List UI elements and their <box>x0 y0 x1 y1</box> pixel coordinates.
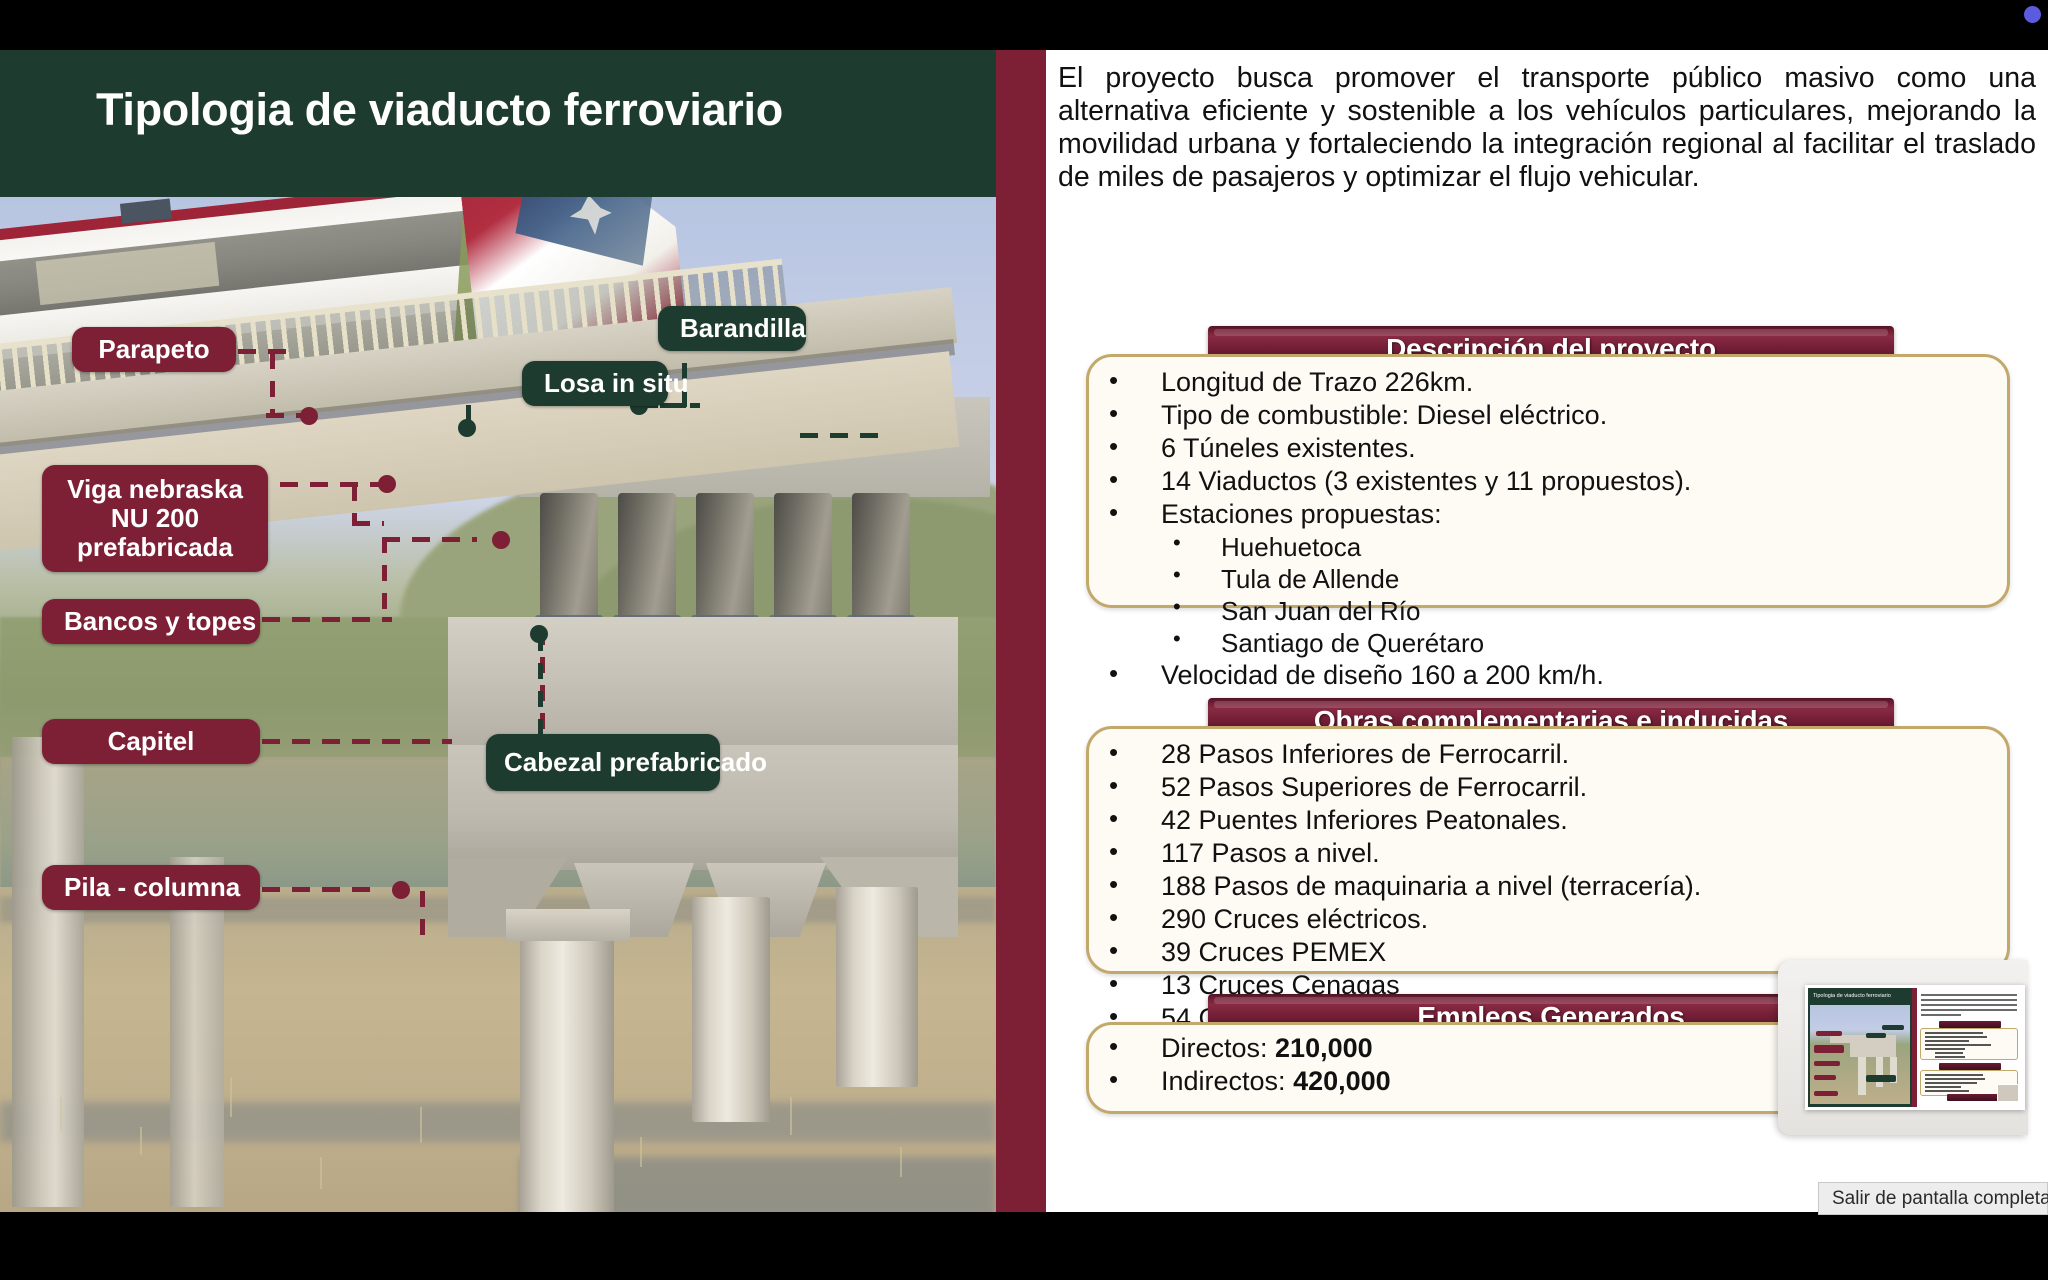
diagram-label-barandilla: Barandilla <box>658 306 806 351</box>
thumb-left-panel: Tipologia de viaducto ferroviario <box>1808 988 1912 1107</box>
diagram-label-losa-in-situ: Losa in situ <box>522 361 668 406</box>
pier-cap-upper <box>448 617 958 747</box>
beam-row <box>540 493 960 625</box>
diagram-label-cabezal-prefabricado: Cabezal prefabricado <box>486 734 720 791</box>
leader-cabezal-h <box>800 433 890 438</box>
thumb-label-7 <box>1866 1033 1886 1038</box>
fullscreen-presentation-viewer: Tipologia de viaducto ferroviario <box>0 0 2048 1280</box>
thumb-text-line <box>1921 1014 1961 1016</box>
bullet-item: 52 Pasos Superiores de Ferrocarril. <box>1089 774 2007 801</box>
beam-4 <box>774 493 832 623</box>
grass-tuft <box>900 1147 902 1177</box>
page-title: Tipologia de viaducto ferroviario <box>96 84 926 136</box>
thumb-text-line <box>1921 1009 2017 1011</box>
grass-tuft <box>140 1127 142 1155</box>
thumb-right-panel <box>1917 988 2022 1107</box>
thumb-label-8 <box>1866 1075 1896 1082</box>
thumb-bullet <box>1925 1086 1961 1088</box>
bullet-item: 14 Viaductos (3 existentes y 11 propuest… <box>1089 468 2007 495</box>
thumb-bullet <box>1925 1044 1991 1046</box>
slide-left-panel: Tipologia de viaducto ferroviario <box>0 50 996 1212</box>
diagram-label-capitel: Capitel <box>42 719 260 764</box>
bullet-item: Huehuetoca <box>1089 534 2007 560</box>
bullet-item: 28 Pasos Inferiores de Ferrocarril. <box>1089 741 2007 768</box>
thumb-text-line <box>1921 999 2017 1001</box>
thumb-bullet <box>1925 1040 1969 1042</box>
column-cap-1 <box>506 909 630 941</box>
thumb-col-2 <box>1876 1057 1883 1087</box>
diagram-label-pila-columna: Pila - columna <box>42 865 260 910</box>
thumb-title: Tipologia de viaducto ferroviario <box>1813 993 1907 999</box>
ground-strip-b <box>0 1102 996 1142</box>
thumb-bullet <box>1935 1052 1963 1054</box>
thumb-section-header-3 <box>1947 1094 1999 1101</box>
leader-capitel-h <box>262 739 452 744</box>
diagram-label-parapeto: Parapeto <box>72 327 236 372</box>
thumb-deck <box>1830 1035 1896 1043</box>
leader-pila-dot <box>392 881 410 899</box>
thumb-bullet <box>1925 1074 1983 1076</box>
column-main-1 <box>520 932 614 1212</box>
thumb-nested-preview <box>1997 1084 2019 1102</box>
bullet-item: 42 Puentes Inferiores Peatonales. <box>1089 807 2007 834</box>
box-descripcion-del-proyecto: Longitud de Trazo 226km.Tipo de combusti… <box>1086 354 2010 608</box>
leader-bancos-h2 <box>382 537 477 542</box>
leader-cabezal-v <box>538 635 543 735</box>
thumb-bullet <box>1925 1078 1985 1080</box>
bullet-item: Tula de Allende <box>1089 566 2007 592</box>
bullet-item: San Juan del Río <box>1089 598 2007 624</box>
leader-parapeto-v <box>270 353 275 417</box>
diagram-label-bancos-y-topes: Bancos y topes <box>42 599 260 644</box>
slide-title-band: Tipologia de viaducto ferroviario <box>0 50 996 190</box>
beam-2 <box>618 493 676 623</box>
column-main-3 <box>836 887 918 1087</box>
leader-bancos-v <box>382 537 387 621</box>
thumb-section-header-1 <box>1939 1021 2001 1028</box>
slide-thumbnail-preview[interactable]: Tipologia de viaducto ferroviario <box>1805 985 2025 1110</box>
column-main-2 <box>692 897 770 1122</box>
bullet-item: 188 Pasos de maquinaria a nivel (terrace… <box>1089 873 2007 900</box>
grass-tuft <box>60 1097 62 1131</box>
bullet-item: Velocidad de diseño 160 a 200 km/h. <box>1089 662 2007 689</box>
grass-tuft <box>790 1097 792 1135</box>
grass-tuft <box>420 1107 422 1143</box>
exit-fullscreen-tooltip: Salir de pantalla completa (f) <box>1818 1182 2048 1215</box>
leader-parapeto-h <box>238 349 292 354</box>
cursor-pointer-dot <box>2024 6 2041 23</box>
thumb-illustration <box>1810 1005 1910 1104</box>
bullet-item: Estaciones propuestas: <box>1089 501 2007 528</box>
beam-3 <box>696 493 754 623</box>
slide-canvas: Tipologia de viaducto ferroviario <box>0 50 2048 1212</box>
leader-viga-dot <box>378 475 396 493</box>
thumb-label-3 <box>1814 1061 1840 1066</box>
thumb-bullet <box>1925 1082 1977 1084</box>
column-far-left <box>12 737 84 1207</box>
bullet-item: Santiago de Querétaro <box>1089 630 2007 656</box>
box-obras-complementarias: 28 Pasos Inferiores de Ferrocarril.52 Pa… <box>1086 726 2010 974</box>
thumb-text-line <box>1921 994 2017 996</box>
thumb-bullet <box>1925 1032 1983 1034</box>
thumb-bullet <box>1925 1048 1965 1050</box>
intro-paragraph: El proyecto busca promover el transporte… <box>1058 62 2036 194</box>
leader-losa-dot2 <box>458 419 476 437</box>
leader-bancos-dot <box>492 531 510 549</box>
thumb-label-2 <box>1814 1045 1844 1053</box>
beam-5 <box>852 493 910 623</box>
thumb-section-header-2 <box>1939 1063 2001 1070</box>
grass-tuft <box>640 1137 642 1167</box>
thumb-piercap <box>1850 1043 1896 1057</box>
bullet-value: 420,000 <box>1293 1066 1391 1096</box>
thumb-label-5 <box>1814 1091 1838 1096</box>
list-descripcion: Longitud de Trazo 226km.Tipo de combusti… <box>1089 357 2007 689</box>
bullet-item: 6 Túneles existentes. <box>1089 435 2007 462</box>
bullet-item: Longitud de Trazo 226km. <box>1089 369 2007 396</box>
thumb-text-line <box>1921 1004 2017 1006</box>
leader-pila-h <box>262 887 372 892</box>
grass-tuft <box>320 1157 322 1189</box>
panel-divider <box>996 50 1046 1212</box>
bullet-value: 210,000 <box>1275 1033 1373 1063</box>
leader-viga-v <box>352 485 357 525</box>
leader-bancos-h <box>262 617 392 622</box>
thumb-col-1 <box>1858 1057 1866 1095</box>
leader-pila-v <box>420 891 425 935</box>
thumb-bullet <box>1925 1090 1969 1092</box>
grass-tuft <box>230 1077 232 1117</box>
thumb-bullet <box>1925 1036 1987 1038</box>
thumb-bullet <box>1935 1056 1965 1058</box>
leader-viga-h2 <box>352 521 384 526</box>
bullet-item: 117 Pasos a nivel. <box>1089 840 2007 867</box>
thumb-label-4 <box>1814 1075 1836 1080</box>
diagram-label-viga-nebraska: Viga nebraska NU 200 prefabricada <box>42 465 268 572</box>
bullet-item: Tipo de combustible: Diesel eléctrico. <box>1089 402 2007 429</box>
thumb-label-6 <box>1882 1025 1904 1030</box>
bullet-item: 290 Cruces eléctricos. <box>1089 906 2007 933</box>
thumb-label-1 <box>1816 1031 1842 1036</box>
leader-parapeto-dot <box>300 407 318 425</box>
beam-1 <box>540 493 598 623</box>
